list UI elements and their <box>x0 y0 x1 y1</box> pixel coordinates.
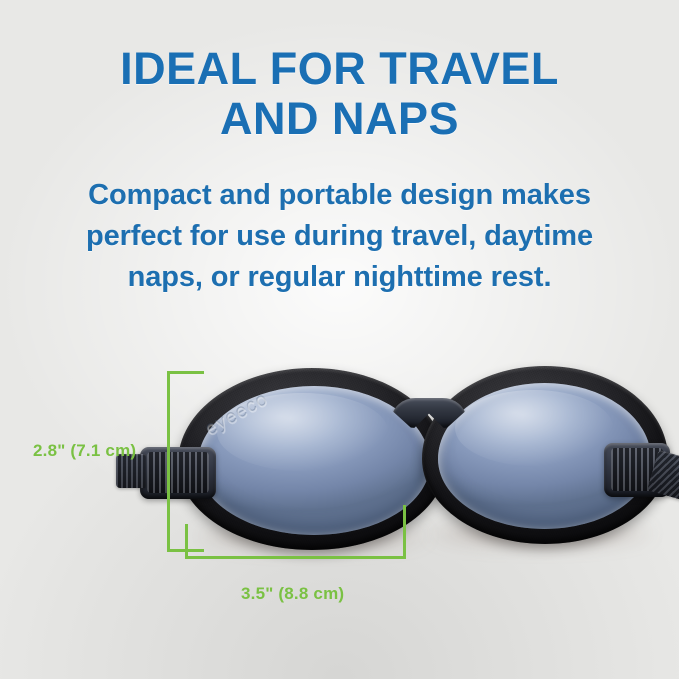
subheading-line-1: Compact and portable design makes <box>0 175 679 216</box>
subheading: Compact and portable design makes perfec… <box>0 175 679 298</box>
headline-line-1: IDEAL FOR TRAVEL <box>0 44 679 94</box>
subheading-line-3: naps, or regular nighttime rest. <box>0 257 679 298</box>
left-strap-tail <box>116 454 146 488</box>
subheading-line-2: perfect for use during travel, daytime <box>0 216 679 257</box>
left-eye-cup <box>178 368 446 550</box>
page-title: IDEAL FOR TRAVEL AND NAPS <box>0 44 679 144</box>
product-marketing-image: IDEAL FOR TRAVEL AND NAPS Compact and po… <box>0 0 679 679</box>
right-strap-clip <box>604 443 670 497</box>
left-clip-ridges <box>147 452 209 493</box>
headline-line-2: AND NAPS <box>0 94 679 144</box>
left-strap-clip <box>140 447 216 499</box>
